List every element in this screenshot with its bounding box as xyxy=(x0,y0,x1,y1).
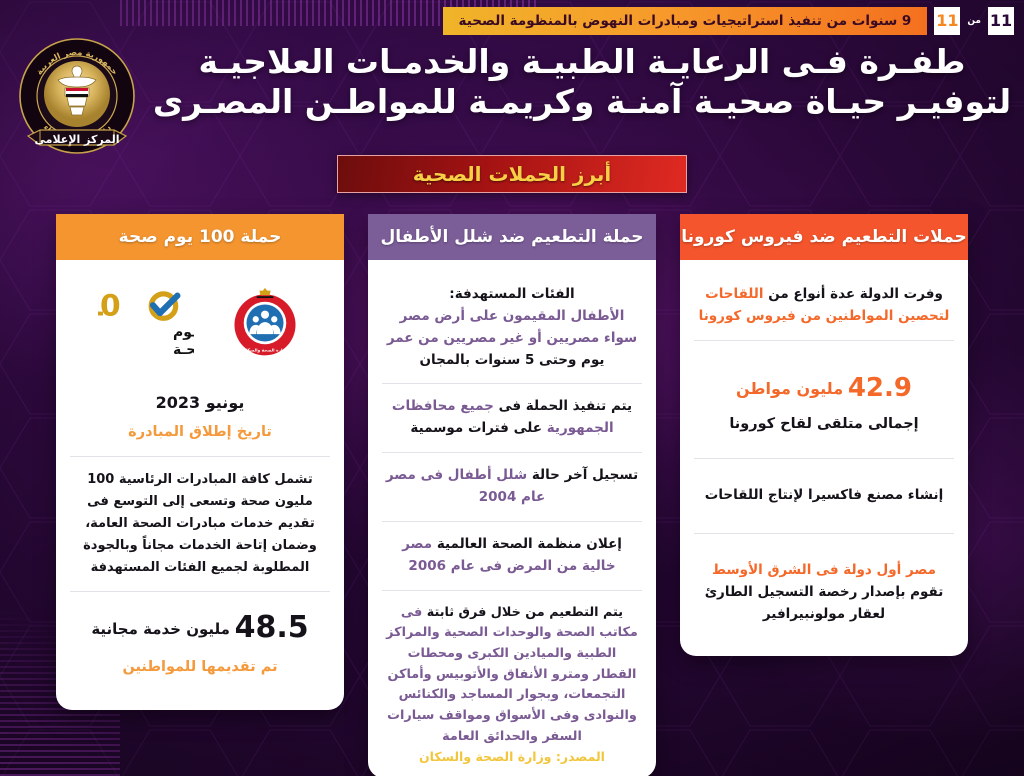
polio-delivery-lead: يتم التطعيم من خلال فرق ثابتة xyxy=(422,605,623,620)
molnupiravir-highlight: مصر أول دولة فى الشرق الأوسط xyxy=(712,562,936,578)
polio-delivery-locations-item: يتم التطعيم من خلال فرق ثابتة فى مكاتب ا… xyxy=(382,590,642,760)
campaign-cards: حملة 100 يوم صحة 1 0 يــوم صحـة xyxy=(0,214,1024,714)
polio-target-groups-age: يوم وحتى 5 سنوات بالمجان xyxy=(420,352,605,368)
vacsera-factory-item: إنشاء مصنع فاكسيرا لإنتاج اللقاحات xyxy=(694,458,954,533)
cabinet-media-center-logo: جمهورية مصر العربية رئاسة مجلس الوزراء ا… xyxy=(14,36,140,162)
molnupiravir-item: مصر أول دولة فى الشرق الأوسط تقوم بإصدار… xyxy=(694,533,954,638)
svg-text:وزارة الصحة والسكان: وزارة الصحة والسكان xyxy=(242,348,287,354)
molnupiravir-detail: تقوم بإصدار رخصة التسجيل الطارئ لعقار مو… xyxy=(705,584,944,622)
polio-coverage-tail: على فترات موسمية xyxy=(410,420,542,436)
polio-target-groups-detail: الأطفال المقيمون على أرض مصر سواء مصريين… xyxy=(387,308,637,346)
free-services-stat-item: 48.5 مليون خدمة مجانية تم تقديمها للمواط… xyxy=(70,591,330,692)
source-footer: المصدر: وزارة الصحة والسكان xyxy=(0,749,1024,764)
polio-who-lead: إعلان منظمة الصحة العالمية xyxy=(432,536,622,552)
polio-delivery-locations: مكاتب الصحة والوحدات الصحية والمراكز الط… xyxy=(386,625,638,744)
page-current-box: 11 xyxy=(934,7,960,35)
section-banner-label: أبرز الحملات الصحية xyxy=(413,162,612,186)
svg-text:صحـة: صحـة xyxy=(173,342,194,358)
free-services-sub: تم تقديمها للمواطنين xyxy=(72,656,328,679)
polio-last-case-item: تسجيل آخر حالة شلل أطفال فى مصر عام 2004 xyxy=(382,452,642,521)
corona-doses-unit: مليون مواطن xyxy=(736,379,843,398)
card-corona-vaccination: حملات التطعيم ضد فيروس كورونا وفرت الدول… xyxy=(680,214,968,656)
topbar-banner: 9 سنوات من تنفيذ استراتيجيات ومبادرات ال… xyxy=(443,7,928,35)
page-total-box: 11 xyxy=(988,7,1014,35)
card-polio-vaccination: حملة التطعيم ضد شلل الأطفال الفئات المست… xyxy=(368,214,656,776)
logo-ministry-of-health: وزارة الصحة والسكان xyxy=(228,286,302,360)
corona-vaccines-item: وفرت الدولة عدة أنواع من اللقاحات لتحصين… xyxy=(694,272,954,340)
card-header-corona: حملات التطعيم ضد فيروس كورونا xyxy=(680,214,968,260)
polio-target-groups-item: الفئات المستهدفة: الأطفال المقيمون على أ… xyxy=(382,272,642,383)
card-header-polio: حملة التطعيم ضد شلل الأطفال xyxy=(368,214,656,260)
polio-target-groups-title: الفئات المستهدفة: xyxy=(384,284,640,306)
launch-date-value: يونيو 2023 xyxy=(72,390,328,416)
main-title-line-1: طفـرة فـى الرعايـة الطبيـة والخدمـات الع… xyxy=(150,42,1014,82)
svg-text:يــوم: يــوم xyxy=(173,325,194,341)
main-title: طفـرة فـى الرعايـة الطبيـة والخدمـات الع… xyxy=(150,42,1014,123)
polio-coverage-lead: يتم تنفيذ الحملة فى xyxy=(494,398,632,414)
corona-vaccines-lead: وفرت الدولة عدة أنواع من xyxy=(764,286,943,302)
top-bar: 11 من 11 9 سنوات من تنفيذ استراتيجيات وم… xyxy=(0,6,1024,36)
svg-text:المركز الإعلامى: المركز الإعلامى xyxy=(35,133,120,146)
page-of-label: من xyxy=(967,16,981,26)
free-services-unit: مليون خدمة مجانية xyxy=(91,620,230,638)
polio-last-case-lead: تسجيل آخر حالة xyxy=(527,467,638,483)
polio-delivery-connector: فى xyxy=(401,605,422,620)
launch-date-item: يونيو 2023 تاريخ إطلاق المبادرة xyxy=(70,378,330,456)
logo-100-days-health: 1 0 يــوم صحـة xyxy=(98,286,194,359)
corona-doses-value: 42.9 xyxy=(848,373,912,403)
polio-who-declaration-item: إعلان منظمة الصحة العالمية مصر خالية من … xyxy=(382,521,642,590)
polio-last-case-detail: شلل أطفال فى مصر عام 2004 xyxy=(386,467,545,505)
card-logos: 1 0 يــوم صحـة xyxy=(70,272,330,378)
svg-text:0: 0 xyxy=(100,288,121,323)
card-hundred-days-health: حملة 100 يوم صحة 1 0 يــوم صحـة xyxy=(56,214,344,710)
launch-date-label: تاريخ إطلاق المبادرة xyxy=(72,421,328,444)
card-header-hundred-days: حملة 100 يوم صحة xyxy=(56,214,344,260)
section-banner: أبرز الحملات الصحية xyxy=(337,155,687,193)
corona-doses-sub: إجمالى متلقى لقاح كورونا xyxy=(696,413,952,436)
polio-coverage-item: يتم تنفيذ الحملة فى جميع محافظات الجمهور… xyxy=(382,383,642,452)
initiative-description-text: تشمل كافة المبادرات الرئاسية 100 مليون ص… xyxy=(72,469,328,578)
free-services-value: 48.5 xyxy=(235,610,309,645)
corona-doses-stat-item: 42.9 مليون مواطن إجمالى متلقى لقاح كورون… xyxy=(694,340,954,459)
main-title-line-2: لتوفيـر حيـاة صحيـة آمنـة وكريمـة للمواط… xyxy=(150,82,1014,122)
initiative-description-item: تشمل كافة المبادرات الرئاسية 100 مليون ص… xyxy=(70,456,330,590)
